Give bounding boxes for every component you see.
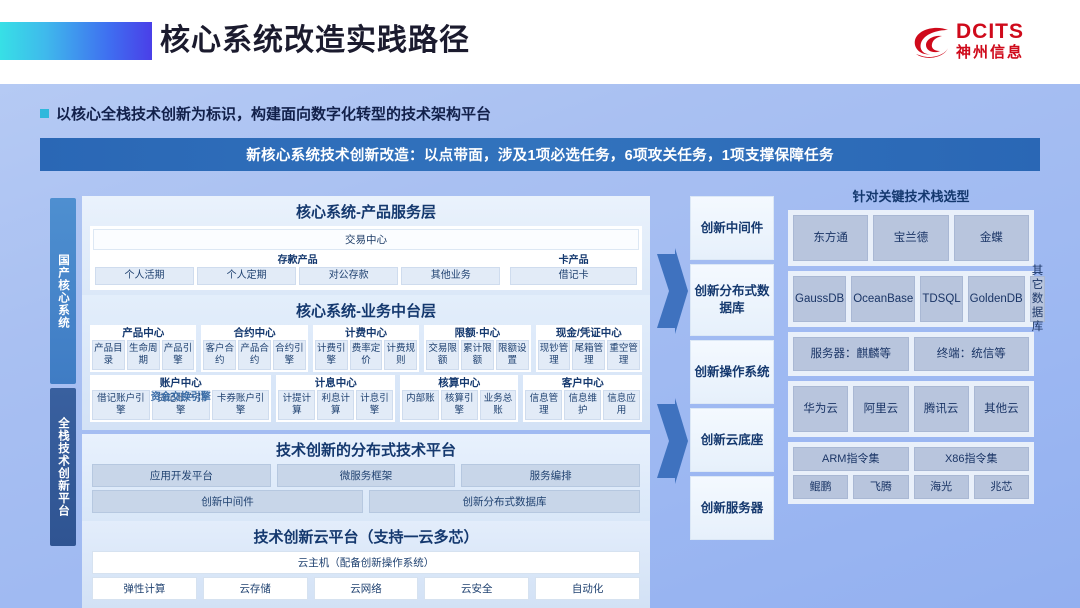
- cell-item[interactable]: 借记卡: [510, 267, 637, 285]
- vendor-chip[interactable]: 终端：统信等: [914, 337, 1030, 371]
- innovation-domain-column: 创新中间件 创新分布式数据库 创新操作系统 创新云底座 创新服务器: [690, 196, 774, 544]
- card-title: 账户中心: [92, 376, 269, 390]
- cell-item[interactable]: 计提计算: [278, 390, 315, 420]
- cell-item[interactable]: 产品引擎: [162, 340, 195, 370]
- card-cells: 内部账 核算引擎 业务总账: [402, 390, 517, 420]
- card-limit-center: 限额·中心 交易限额 累计限额 限额设置: [424, 325, 530, 372]
- bar-item[interactable]: 云网络: [314, 577, 419, 600]
- vendor-chip[interactable]: 阿里云: [853, 386, 908, 432]
- layer-business-middle: 核心系统-业务中台层 产品中心 产品目录 生命周期 产品引擎 合约中心 客户合约…: [82, 295, 650, 430]
- stack-block-server: ARM指令集 X86指令集 鲲鹏 飞腾 海光 兆芯: [788, 442, 1034, 504]
- card-cells: 借记账户引擎 贷记账户引擎 卡券账户引擎: [92, 390, 269, 420]
- bar-item[interactable]: 创新中间件: [92, 490, 363, 513]
- group-card-products: 卡产品 借记卡: [508, 253, 639, 287]
- layer-distributed-platform: 技术创新的分布式技术平台 应用开发平台 微服务框架 服务编排 创新中间件 创新分…: [82, 434, 650, 521]
- cell-item[interactable]: 计费引擎: [315, 340, 348, 370]
- card-cells: 现钞管理 尾箱管理 重空管理: [538, 340, 640, 370]
- layer-product-service: 核心系统-产品服务层 交易中心 存款产品 个人活期 个人定期 对公存款 其他业务: [82, 196, 650, 295]
- bar-item[interactable]: 自动化: [535, 577, 640, 600]
- vendor-chip[interactable]: GoldenDB: [968, 276, 1025, 322]
- layer-distributed-title: 技术创新的分布式技术平台: [82, 437, 650, 464]
- banner: 新核心系统技术创新改造：以点带面，涉及1项必选任务，6项攻关任务，1项支撑保障任…: [40, 138, 1040, 171]
- banner-text: 新核心系统技术创新改造：以点带面，涉及1项必选任务，6项攻关任务，1项支撑保障任…: [246, 144, 834, 165]
- card-cells: 产品目录 生命周期 产品引擎: [92, 340, 194, 370]
- vendor-chip[interactable]: 其它数据库: [1030, 276, 1046, 322]
- layer-cloud-platform: 技术创新云平台（支持一云多芯） 云主机（配备创新操作系统） 弹性计算 云存储 云…: [82, 521, 650, 608]
- cloud-host-item[interactable]: 云主机（配备创新操作系统）: [92, 551, 640, 574]
- card-title: 合约中心: [203, 326, 305, 340]
- card-contract-center: 合约中心 客户合约 产品合约 合约引擎: [201, 325, 307, 372]
- stack-block-database: GaussDB OceanBase TDSQL GoldenDB 其它数据库: [788, 271, 1034, 327]
- layer-business-middle-title: 核心系统-业务中台层: [82, 298, 650, 325]
- cell-item[interactable]: 累计限额: [461, 340, 494, 370]
- cell-item[interactable]: 其他业务: [401, 267, 500, 285]
- cpu-chip[interactable]: 兆芯: [974, 475, 1029, 499]
- cell-item[interactable]: 生命周期: [127, 340, 160, 370]
- cell-item[interactable]: 限额设置: [496, 340, 529, 370]
- group-deposit-products: 存款产品 个人活期 个人定期 对公存款 其他业务: [93, 253, 502, 287]
- cpu-row: 鲲鹏 飞腾 海光 兆芯: [793, 475, 1029, 499]
- group-cells: 借记卡: [510, 267, 637, 285]
- card-cells: 客户合约 产品合约 合约引擎: [203, 340, 305, 370]
- domain-cloud-base[interactable]: 创新云底座: [690, 408, 774, 472]
- logo-en-text: DCITS: [956, 20, 1024, 43]
- card-interest-center: 计息中心 计提计算 利息计算 计息引擎: [276, 375, 395, 422]
- cell-item[interactable]: 对公存款: [299, 267, 398, 285]
- trade-center-row: 交易中心: [93, 229, 639, 250]
- vendor-chip[interactable]: 东方通: [793, 215, 868, 261]
- business-row-2: 账户中心 借记账户引擎 贷记账户引擎 卡券账户引擎 资金交换引擎 计息中心 计提…: [90, 375, 642, 422]
- bar-item[interactable]: 弹性计算: [92, 577, 197, 600]
- card-cash-voucher-center: 现金/凭证中心 现钞管理 尾箱管理 重空管理: [536, 325, 642, 372]
- cell-item[interactable]: 合约引擎: [273, 340, 306, 370]
- flow-arrow-icon: [655, 398, 689, 484]
- vendor-chip[interactable]: 其他云: [974, 386, 1029, 432]
- dist-row-2: 创新中间件 创新分布式数据库: [92, 490, 640, 513]
- logo-swirl-icon: [912, 24, 952, 62]
- cpu-chip[interactable]: 鲲鹏: [793, 475, 848, 499]
- product-service-body: 交易中心 存款产品 个人活期 个人定期 对公存款 其他业务 卡产品: [90, 226, 642, 290]
- cloud-capability-row: 弹性计算 云存储 云网络 云安全 自动化: [92, 577, 640, 600]
- stack-block-cloud: 华为云 阿里云 腾讯云 其他云: [788, 381, 1034, 437]
- card-customer-center: 客户中心 信息管理 信息维护 信息应用: [523, 375, 642, 422]
- group-caption: 卡产品: [510, 254, 637, 267]
- layer-product-service-title: 核心系统-产品服务层: [82, 199, 650, 226]
- cell-item[interactable]: 内部账: [402, 390, 439, 420]
- domain-middleware[interactable]: 创新中间件: [690, 196, 774, 260]
- bullet-square-icon: [40, 109, 49, 118]
- dist-row-1: 应用开发平台 微服务框架 服务编排: [92, 464, 640, 487]
- card-accounting-center: 核算中心 内部账 核算引擎 业务总账: [400, 375, 519, 422]
- bar-item[interactable]: 服务编排: [461, 464, 640, 487]
- vendor-chip[interactable]: 服务器：麒麟等: [793, 337, 909, 371]
- layer-cloud-title: 技术创新云平台（支持一云多芯）: [82, 524, 650, 551]
- card-cells: 计提计算 利息计算 计息引擎: [278, 390, 393, 420]
- headline-row: 以核心全栈技术创新为标识，构建面向数字化转型的技术架构平台: [40, 103, 491, 124]
- flow-arrow-icon: [655, 248, 689, 334]
- page-header: 核心系统改造实践路径 DCITS 神州信息: [0, 0, 1080, 84]
- card-product-center: 产品中心 产品目录 生命周期 产品引擎: [90, 325, 196, 372]
- cell-item[interactable]: 利息计算: [317, 390, 354, 420]
- vertical-tab-tech-platform: 全栈技术创新平台: [50, 388, 76, 546]
- product-groups: 存款产品 个人活期 个人定期 对公存款 其他业务 卡产品 借记卡: [93, 253, 639, 287]
- card-title: 现金/凭证中心: [538, 326, 640, 340]
- tech-stack-selection-column: 针对关键技术栈选型 东方通 宝兰德 金蝶 GaussDB OceanBase T…: [788, 186, 1034, 509]
- headline-text: 以核心全栈技术创新为标识，构建面向数字化转型的技术架构平台: [56, 103, 491, 124]
- stack-block-middleware: 东方通 宝兰德 金蝶: [788, 210, 1034, 266]
- cell-item[interactable]: 信息管理: [525, 390, 562, 420]
- cell-item[interactable]: 交易限额: [426, 340, 459, 370]
- vendor-chip[interactable]: 腾讯云: [914, 386, 969, 432]
- stack-row: GaussDB OceanBase TDSQL GoldenDB 其它数据库: [793, 276, 1029, 322]
- vendor-chip[interactable]: TDSQL: [920, 276, 962, 322]
- card-cells: 计费引擎 费率定价 计费规则: [315, 340, 417, 370]
- cell-item[interactable]: 重空管理: [607, 340, 640, 370]
- card-title: 产品中心: [92, 326, 194, 340]
- cell-item[interactable]: 贷记账户引擎: [152, 390, 210, 420]
- cell-item[interactable]: 产品合约: [238, 340, 271, 370]
- vendor-chip[interactable]: 华为云: [793, 386, 848, 432]
- tech-stack-title: 针对关键技术栈选型: [788, 186, 1034, 205]
- bar-item[interactable]: 应用开发平台: [92, 464, 271, 487]
- cell-item[interactable]: 尾箱管理: [572, 340, 605, 370]
- architecture-panel: 国产核心系统 全栈技术创新平台 核心系统-产品服务层 交易中心 存款产品 个人活…: [50, 196, 650, 548]
- bar-item[interactable]: 微服务框架: [277, 464, 456, 487]
- vendor-chip[interactable]: 宝兰德: [873, 215, 948, 261]
- bar-item[interactable]: 创新分布式数据库: [369, 490, 640, 513]
- domain-distributed-db[interactable]: 创新分布式数据库: [690, 264, 774, 336]
- group-caption: 存款产品: [95, 254, 500, 267]
- domain-server[interactable]: 创新服务器: [690, 476, 774, 540]
- cell-item[interactable]: 信息维护: [564, 390, 601, 420]
- group-cells: 个人活期 个人定期 对公存款 其他业务: [95, 267, 500, 285]
- isa-chip[interactable]: ARM指令集: [793, 447, 909, 471]
- cell-item[interactable]: 现钞管理: [538, 340, 571, 370]
- domain-operating-system[interactable]: 创新操作系统: [690, 340, 774, 404]
- cell-item[interactable]: 客户合约: [203, 340, 236, 370]
- card-title: 客户中心: [525, 376, 640, 390]
- vertical-tab-core-system: 国产核心系统: [50, 198, 76, 384]
- vendor-chip[interactable]: 金蝶: [954, 215, 1029, 261]
- page-title: 核心系统改造实践路径: [160, 20, 470, 62]
- cell-item[interactable]: 产品目录: [92, 340, 125, 370]
- cell-item[interactable]: 计息引擎: [356, 390, 393, 420]
- cell-item[interactable]: 个人活期: [95, 267, 194, 285]
- stack-row: 华为云 阿里云 腾讯云 其他云: [793, 386, 1029, 432]
- card-cells: 交易限额 累计限额 限额设置: [426, 340, 528, 370]
- card-cells: 信息管理 信息维护 信息应用: [525, 390, 640, 420]
- vendor-chip[interactable]: OceanBase: [851, 276, 915, 322]
- stack-row: 东方通 宝兰德 金蝶: [793, 215, 1029, 261]
- cell-item[interactable]: 信息应用: [603, 390, 640, 420]
- card-billing-center: 计费中心 计费引擎 费率定价 计费规则: [313, 325, 419, 372]
- cell-item[interactable]: 业务总账: [480, 390, 517, 420]
- business-row-1: 产品中心 产品目录 生命周期 产品引擎 合约中心 客户合约 产品合约 合约引擎: [90, 325, 642, 372]
- stack-row: 服务器：麒麟等 终端：统信等: [793, 337, 1029, 371]
- cell-item[interactable]: 核算引擎: [441, 390, 478, 420]
- cell-item[interactable]: 费率定价: [350, 340, 383, 370]
- vendor-chip[interactable]: GaussDB: [793, 276, 846, 322]
- cloud-host-row: 云主机（配备创新操作系统）: [92, 551, 640, 574]
- card-title: 计费中心: [315, 326, 417, 340]
- card-title: 计息中心: [278, 376, 393, 390]
- bar-item[interactable]: 云存储: [203, 577, 308, 600]
- cell-item[interactable]: 计费规则: [384, 340, 417, 370]
- cell-item[interactable]: 卡券账户引擎: [212, 390, 270, 420]
- cpu-chip[interactable]: 飞腾: [853, 475, 908, 499]
- isa-chip[interactable]: X86指令集: [914, 447, 1030, 471]
- cell-item[interactable]: 借记账户引擎: [92, 390, 150, 420]
- isa-row: ARM指令集 X86指令集: [793, 447, 1029, 471]
- header-accent-bar: [0, 22, 152, 60]
- bar-item[interactable]: 云安全: [424, 577, 529, 600]
- card-title: 核算中心: [402, 376, 517, 390]
- cpu-chip[interactable]: 海光: [914, 475, 969, 499]
- stack-block-os: 服务器：麒麟等 终端：统信等: [788, 332, 1034, 376]
- layer-stack: 核心系统-产品服务层 交易中心 存款产品 个人活期 个人定期 对公存款 其他业务: [82, 196, 650, 608]
- logo-text: DCITS 神州信息: [956, 20, 1024, 62]
- card-account-center: 账户中心 借记账户引擎 贷记账户引擎 卡券账户引擎 资金交换引擎: [90, 375, 271, 422]
- card-title: 限额·中心: [426, 326, 528, 340]
- logo-cn-text: 神州信息: [956, 43, 1024, 62]
- cell-item[interactable]: 个人定期: [197, 267, 296, 285]
- dcits-logo: DCITS 神州信息: [912, 20, 1042, 68]
